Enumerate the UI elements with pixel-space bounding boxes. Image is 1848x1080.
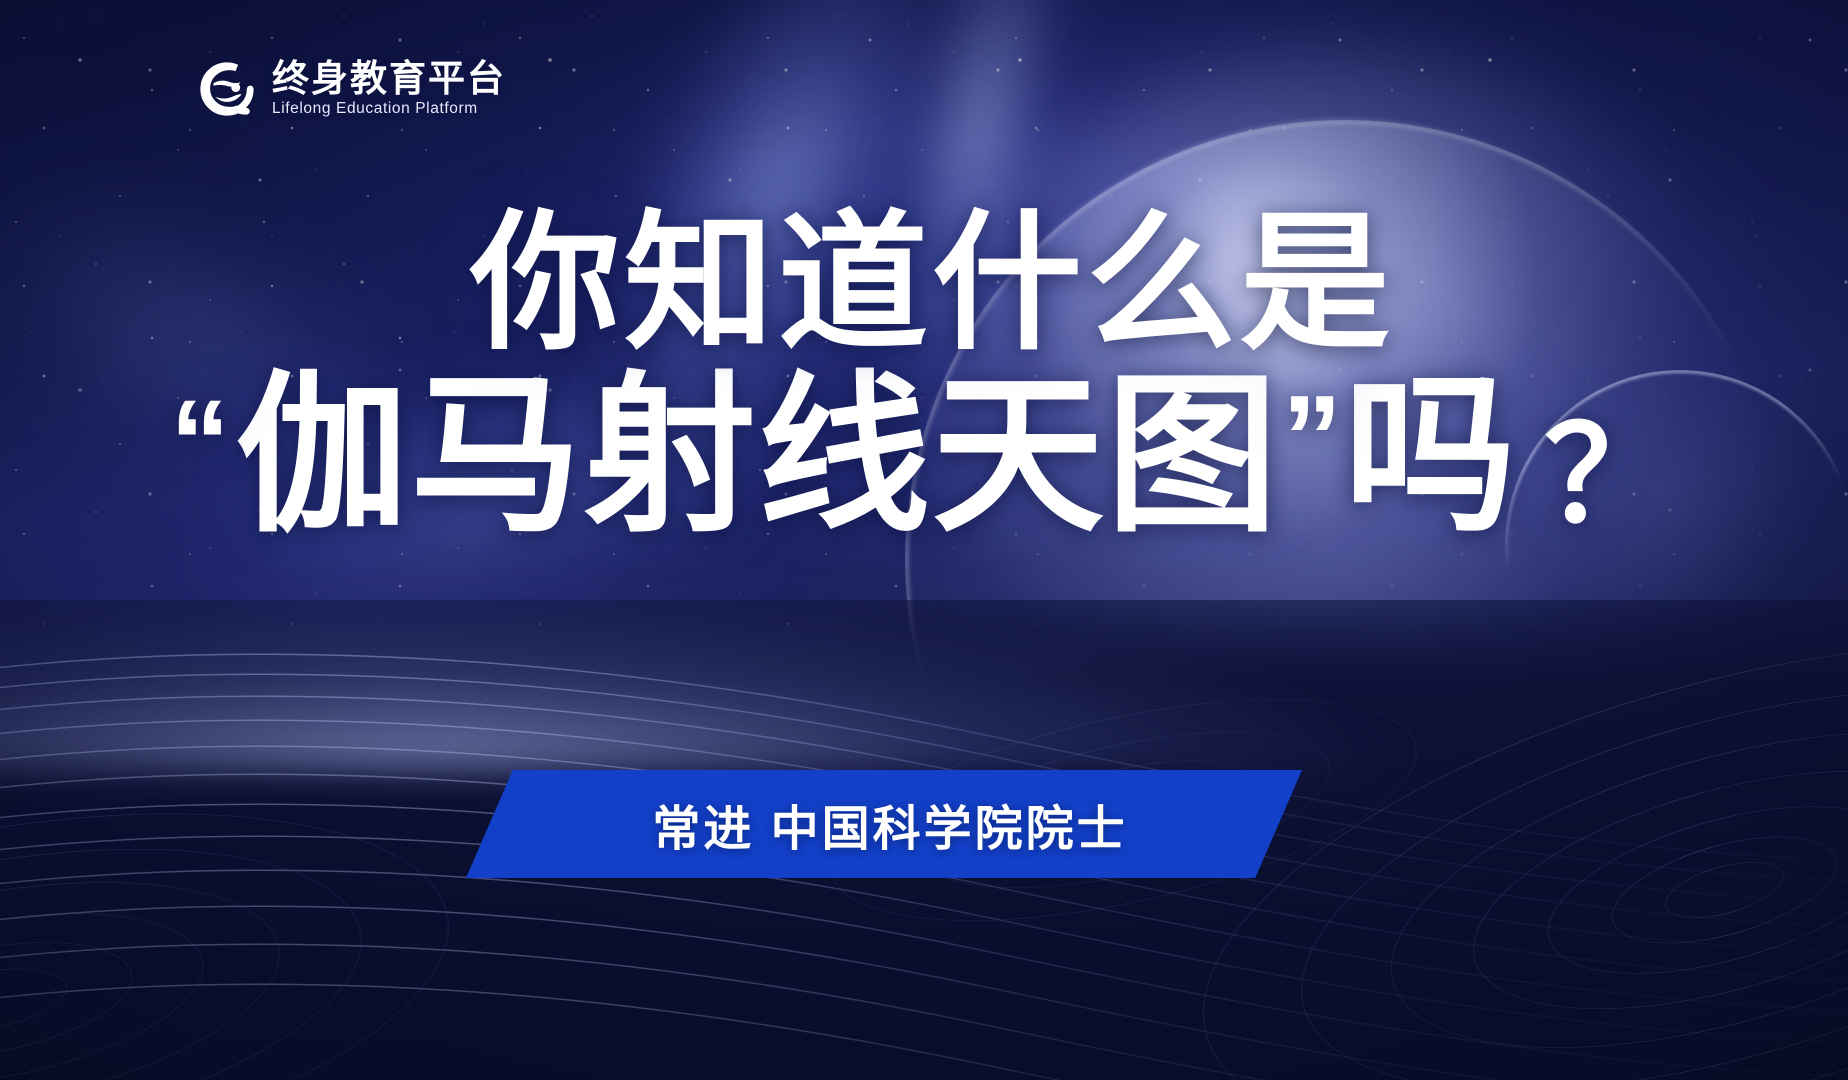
question-mark: ？ xyxy=(1544,410,1678,542)
speaker-banner: 常进 中国科学院院士 xyxy=(466,770,1302,878)
slide-canvas: 终身教育平台 Lifelong Education Platform 你知道什么… xyxy=(0,0,1848,1080)
platform-logo[interactable]: 终身教育平台 Lifelong Education Platform xyxy=(196,58,506,120)
crescent-moon-logo-icon xyxy=(196,58,258,120)
headline-keyword: 伽马射线天图 xyxy=(236,370,1280,542)
headline-line-1: 你知道什么是 xyxy=(8,208,1848,358)
speaker-banner-text: 常进 中国科学院院士 xyxy=(652,789,1127,859)
quote-close: ” xyxy=(1282,378,1344,498)
logo-wordmark: 终身教育平台 Lifelong Education Platform xyxy=(272,60,506,117)
headline-line-2: “ 伽马射线天图 ” 吗 ？ xyxy=(0,370,1848,542)
headline-particle: 吗 xyxy=(1344,370,1518,542)
logo-name-en: Lifelong Education Platform xyxy=(272,101,506,117)
headline-block: 你知道什么是 “ 伽马射线天图 ” 吗 ？ xyxy=(0,208,1848,542)
quote-open: “ xyxy=(170,382,232,502)
terrain-ridge-glow xyxy=(0,600,1848,770)
logo-name-cn: 终身教育平台 xyxy=(272,60,506,99)
